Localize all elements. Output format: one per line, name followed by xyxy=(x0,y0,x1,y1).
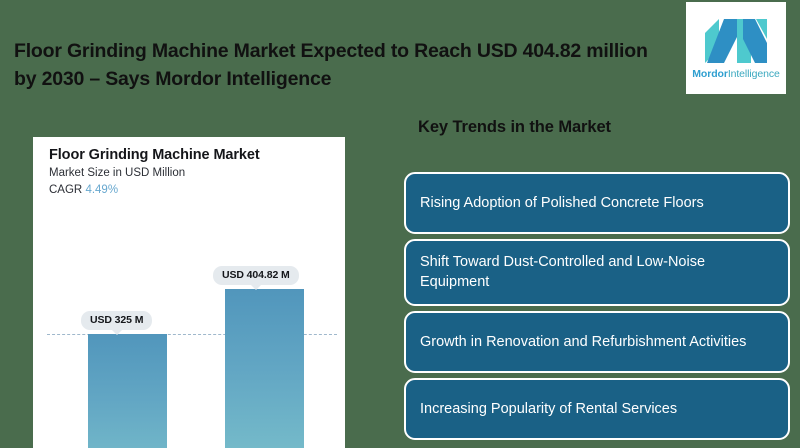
trend-card-4[interactable]: Increasing Popularity of Rental Services xyxy=(404,378,790,440)
value-label-2025: USD 325 M xyxy=(81,311,152,330)
page-headline: Floor Grinding Machine Market Expected t… xyxy=(14,38,654,93)
chart-title: Floor Grinding Machine Market xyxy=(49,147,260,163)
bar-chart-plot: USD 325 M USD 404.82 M 2025 2030 Source … xyxy=(33,207,345,448)
trend-card-2[interactable]: Shift Toward Dust-Controlled and Low-Noi… xyxy=(404,239,790,306)
brand-wordmark: MordorIntelligence xyxy=(692,68,779,80)
cagr-label: CAGR xyxy=(49,184,82,196)
trend-list: Rising Adoption of Polished Concrete Flo… xyxy=(404,172,790,445)
trend-card-3[interactable]: Growth in Renovation and Refurbishment A… xyxy=(404,311,790,373)
trend-card-1-label: Rising Adoption of Polished Concrete Flo… xyxy=(420,193,704,213)
bar-2025 xyxy=(88,334,167,448)
trend-card-3-label: Growth in Renovation and Refurbishment A… xyxy=(420,332,746,352)
trend-card-2-label: Shift Toward Dust-Controlled and Low-Noi… xyxy=(420,252,774,292)
trend-card-1[interactable]: Rising Adoption of Polished Concrete Flo… xyxy=(404,172,790,234)
trend-card-4-label: Increasing Popularity of Rental Services xyxy=(420,399,677,419)
chart-card: Floor Grinding Machine Market Market Siz… xyxy=(33,137,345,448)
cagr-value: 4.49% xyxy=(85,184,118,196)
mordor-logo-mark xyxy=(703,17,769,63)
brand-name-bold: Mordor xyxy=(692,68,728,80)
chart-subtitle: Market Size in USD Million xyxy=(49,167,185,179)
trends-title: Key Trends in the Market xyxy=(418,118,611,137)
brand-name-light: Intelligence xyxy=(728,68,780,80)
mordor-intelligence-logo: MordorIntelligence xyxy=(686,2,786,94)
value-label-2030: USD 404.82 M xyxy=(213,266,299,285)
chart-cagr: CAGR 4.49% xyxy=(49,184,118,196)
bar-2030 xyxy=(225,289,304,448)
